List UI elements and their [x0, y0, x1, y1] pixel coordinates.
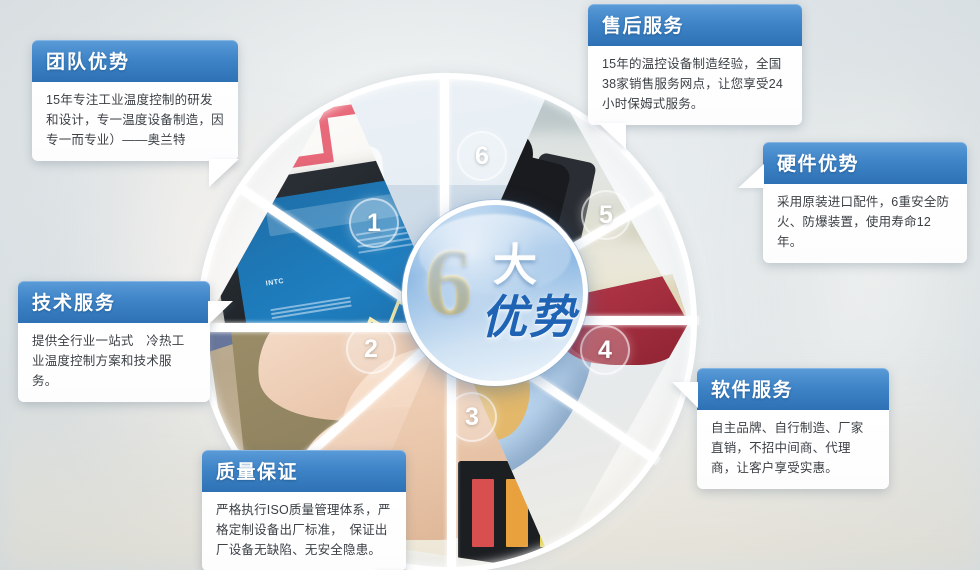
- card-after-sales-pointer: [598, 123, 626, 149]
- badge-5[interactable]: 5: [581, 190, 631, 240]
- badge-2[interactable]: 2: [346, 324, 396, 374]
- card-hardware-pointer: [738, 164, 764, 188]
- badge-1[interactable]: 1: [349, 198, 399, 248]
- card-software-title: 软件服务: [697, 368, 889, 410]
- card-hardware-advantage[interactable]: 硬件优势 采用原装进口配件，6重安全防火、防爆装置，使用寿命12年。: [763, 142, 967, 263]
- card-quality-body: 严格执行ISO质量管理体系，严格定制设备出厂标准， 保证出厂设备无缺陷、无安全隐…: [202, 492, 406, 570]
- badge-4[interactable]: 4: [580, 325, 630, 375]
- card-software-service[interactable]: 软件服务 自主品牌、自行制造、厂家直销，不招中间商、代理商，让客户享受实惠。: [697, 368, 889, 489]
- card-technical-body: 提供全行业一站式 冷热工业温度控制方案和技术服务。: [18, 323, 210, 402]
- center-badge[interactable]: 6 大 优势: [402, 200, 588, 386]
- card-quality-title: 质量保证: [202, 450, 406, 492]
- center-number: 6: [424, 237, 473, 327]
- card-team-title: 团队优势: [32, 40, 238, 82]
- card-hardware-body: 采用原装进口配件，6重安全防火、防爆装置，使用寿命12年。: [763, 184, 967, 263]
- center-word: 优势: [481, 281, 577, 347]
- card-after-sales[interactable]: 售后服务 15年的温控设备制造经验，全国38家销售服务网点，让您享受24小时保姆…: [588, 4, 802, 125]
- card-team-pointer: [209, 159, 239, 187]
- card-software-pointer: [672, 382, 698, 408]
- card-team-body: 15年专注工业温度控制的研发和设计，专一温度设备制造，因专一而专业）——奥兰特: [32, 82, 238, 161]
- card-team-advantage[interactable]: 团队优势 15年专注工业温度控制的研发和设计，专一温度设备制造，因专一而专业）—…: [32, 40, 238, 161]
- card-technical-title: 技术服务: [18, 281, 210, 323]
- card-technical-service[interactable]: 技术服务 提供全行业一站式 冷热工业温度控制方案和技术服务。: [18, 281, 210, 402]
- infographic-canvas: INTC: [0, 0, 980, 570]
- card-hardware-title: 硬件优势: [763, 142, 967, 184]
- card-after-sales-body: 15年的温控设备制造经验，全国38家销售服务网点，让您享受24小时保姆式服务。: [588, 46, 802, 125]
- badge-3[interactable]: 3: [447, 392, 497, 442]
- card-after-sales-title: 售后服务: [588, 4, 802, 46]
- card-software-body: 自主品牌、自行制造、厂家直销，不招中间商、代理商，让客户享受实惠。: [697, 410, 889, 489]
- badge-6[interactable]: 6: [457, 131, 507, 181]
- card-technical-pointer: [208, 301, 233, 325]
- card-quality-assurance[interactable]: 质量保证 严格执行ISO质量管理体系，严格定制设备出厂标准， 保证出厂设备无缺陷…: [202, 450, 406, 570]
